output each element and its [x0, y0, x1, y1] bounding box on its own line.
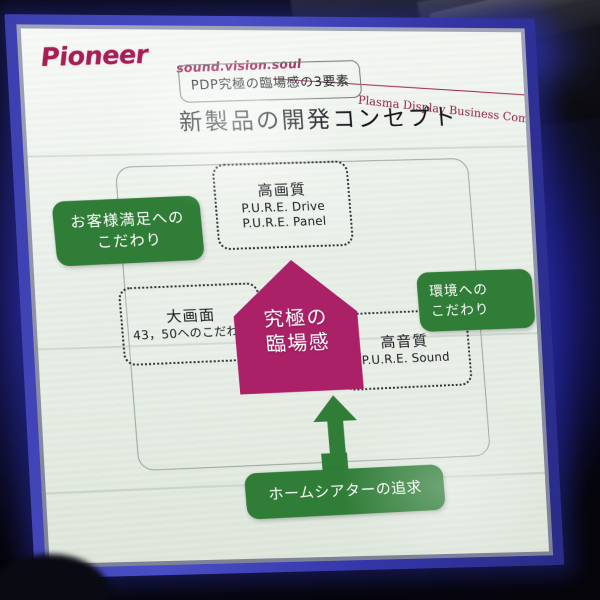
pioneer-logo: Pioneer [40, 40, 149, 72]
green-box-line-2: こだわり [430, 300, 490, 320]
presentation-slide: Pioneer sound.vision.soul Plasma Display… [21, 28, 549, 563]
page-title: 新製品の開発コンセプト [178, 98, 459, 137]
green-box-line-2: こだわり [96, 230, 163, 253]
element-picture-quality: 高画質 P.U.R.E. Drive P.U.R.E. Panel [211, 160, 354, 250]
green-box-line-1: お客様満足への [69, 208, 185, 233]
center-pentagon-shape [223, 254, 370, 399]
green-box-line-1: 環境への [429, 281, 489, 301]
photo-of-projection-screen: Pioneer sound.vision.soul Plasma Display… [0, 0, 600, 600]
green-box-home-theater: ホームシアターの追求 [244, 464, 446, 519]
green-box-environment: 環境への こだわり [416, 269, 536, 332]
element-heading: 高音質 [380, 332, 429, 352]
green-box-customer-satisfaction: お客様満足への こだわり [51, 195, 205, 266]
element-heading: 高画質 [257, 180, 307, 199]
projection-screen: Pioneer sound.vision.soul Plasma Display… [0, 0, 581, 595]
projector-scan-band [21, 145, 549, 159]
element-heading: 大画面 [165, 306, 216, 326]
element-subline-1: P.U.R.E. Drive [241, 198, 326, 215]
element-subline-1: P.U.R.E. Sound [361, 350, 450, 368]
green-box-line-1: ホームシアターの追求 [268, 478, 423, 505]
group-label: PDP究極の臨場感の3要素 [177, 60, 362, 103]
element-subline-2: P.U.R.E. Panel [242, 214, 327, 231]
